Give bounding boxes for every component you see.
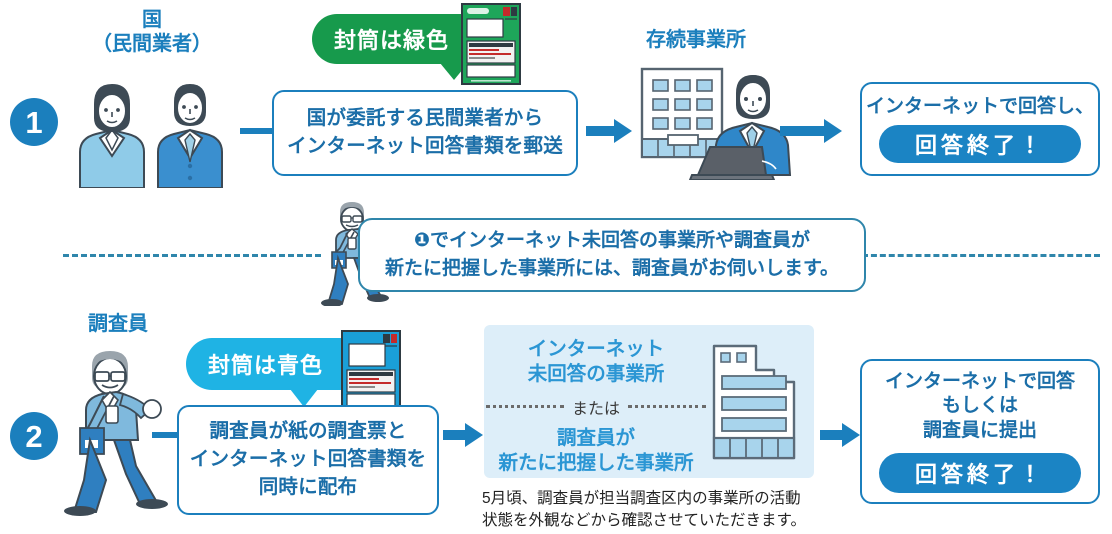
row2-process-text: 調査員が紙の調査票と インターネット回答書類を 同時に配布 [190,418,426,501]
step-number-2: 2 [10,412,58,460]
flow-diagram: 1 国 （民間業者） [0,0,1112,534]
row2-arrow-1-icon [443,422,483,453]
green-envelope-label: 封筒は緑色 [334,23,449,55]
row1-result-pill: 回答終了！ [879,125,1081,163]
row1-connector-line [240,128,274,134]
government-workers-illustration [70,78,235,193]
row2-actor-caption: 調査員 [58,312,178,336]
panel-or-label: または [572,395,620,419]
row1-arrow-1-icon [586,118,632,149]
middle-note-bubble: ❶でインターネット未回答の事業所や調査員が 新たに把握した事業所には、調査員がお… [358,218,866,292]
divider-right [862,254,1100,257]
row2-process-box: 調査員が紙の調査票と インターネット回答書類を 同時に配布 [177,405,439,515]
row1-process-text: 国が委託する民間業者から インターネット回答書類を郵送 [287,105,563,160]
row2-result-box: インターネットで回答 もしくは 調査員に提出 回答終了！ [860,359,1100,504]
blue-envelope-icon [341,330,401,417]
row1-process-box: 国が委託する民間業者から インターネット回答書類を郵送 [272,90,578,176]
panel-head-bottom: 調査員が 新たに把握した事業所 [484,426,708,477]
panel-or-row: または [484,395,708,419]
blue-envelope-label: 封筒は青色 [208,348,323,380]
middle-note-text: ❶でインターネット未回答の事業所や調査員が 新たに把握した事業所には、調査員がお… [385,227,839,284]
divider-left [63,254,321,257]
dotted-rule-right [628,405,706,408]
row1-result-box: インターネットで回答し、 回答終了！ [860,82,1100,176]
step-number-1: 1 [10,98,58,146]
green-envelope-icon [461,3,521,90]
row1-actor-caption: 国 （民間業者） [62,8,242,57]
row2-footnote: 5月頃、調査員が担当調査区内の事業所の活動 状態を外観などから確認させていただき… [482,488,830,533]
row2-result-pill: 回答終了！ [879,453,1081,493]
row2-result-text: インターネットで回答 もしくは 調査員に提出 [885,370,1075,443]
blue-envelope-callout: 封筒は青色 [186,338,366,390]
small-office-building-icon [712,344,796,465]
dotted-rule-left [486,405,564,408]
row1-arrow-2-icon [780,118,842,149]
row1-target-caption: 存続事業所 [608,28,784,52]
row1-result-text: インターネットで回答し、 [866,95,1094,119]
row2-arrow-2-icon [820,422,860,453]
panel-head-top: インターネット 未回答の事業所 [484,337,708,388]
